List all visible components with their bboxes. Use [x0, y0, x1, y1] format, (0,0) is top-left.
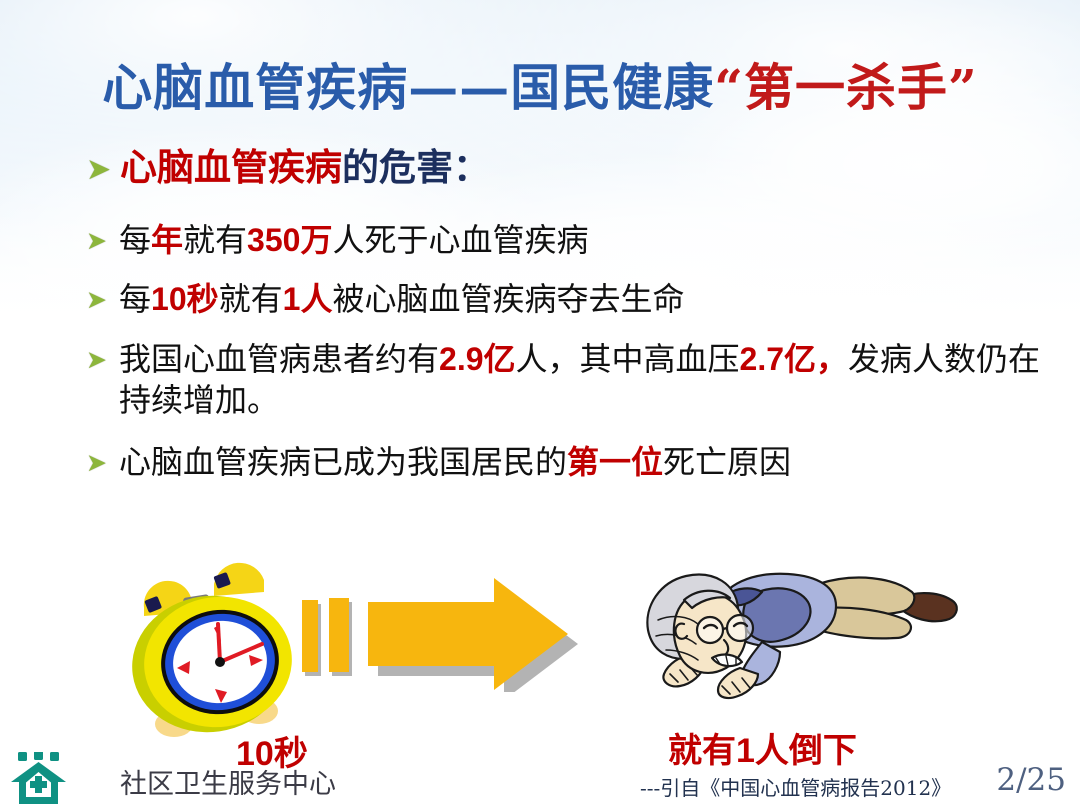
text-segment-highlight: 第一位 [567, 444, 663, 480]
arrow-bullet-icon: ➤ [86, 339, 119, 372]
lead-bullet-rest: 的危害： [342, 147, 490, 188]
list-item-text: 每10秒就有1人被心脑血管疾病夺去生命 [119, 279, 1046, 321]
right-arrow-icon [300, 572, 620, 692]
list-item: ➤ 每10秒就有1人被心脑血管疾病夺去生命 [86, 279, 1046, 321]
text-segment: 就有 [219, 281, 283, 317]
arrow-bullet-icon: ➤ [86, 442, 119, 475]
title-emphasis: “第一杀手” [714, 58, 978, 117]
text-segment-highlight: 10秒 [151, 281, 219, 317]
lead-bullet: ➤ 心脑血管疾病的危害： [86, 146, 1046, 190]
text-segment: 死亡原因 [663, 444, 791, 480]
slide: 心脑血管疾病——国民健康“第一杀手” ➤ 心脑血管疾病的危害： ➤ 每年就有35… [0, 0, 1080, 810]
text-segment-highlight: 年 [151, 222, 183, 258]
page-number: 2/25 [996, 762, 1066, 798]
text-segment-highlight: 2.7亿， [740, 341, 849, 377]
title-main: 心脑血管疾病——国民健康 [102, 58, 714, 117]
text-segment: 每 [119, 281, 151, 317]
text-segment: 就有 [183, 222, 247, 258]
text-segment-highlight: 350万 [247, 222, 332, 258]
text-segment: 心脑血管疾病已成为我国居民的 [119, 444, 567, 480]
text-segment: 我国心血管病患者约有 [119, 341, 439, 377]
list-item-text: 我国心血管病患者约有2.9亿人，其中高血压2.7亿，发病人数仍在持续增加。 [119, 339, 1046, 422]
text-segment-highlight: 2.9亿 [439, 341, 516, 377]
bullet-list: ➤ 心脑血管疾病的危害： ➤ 每年就有350万人死于心血管疾病 ➤ 每10秒就有… [86, 146, 1046, 502]
arrow-bullet-icon: ➤ [86, 279, 119, 312]
arrow-bullet-icon: ➤ [86, 220, 119, 253]
text-segment: 被心脑血管疾病夺去生命 [332, 281, 684, 317]
caption-right: 就有1人倒下 [668, 723, 857, 772]
list-item-text: 心脑血管疾病已成为我国居民的第一位死亡原因 [119, 442, 1046, 484]
text-segment-highlight: 1人 [283, 281, 333, 317]
lead-bullet-highlight: 心脑血管疾病 [120, 147, 342, 188]
footer-source-citation: ---引自《中国心血管病报告2012》 [640, 772, 951, 801]
list-item: ➤ 心脑血管疾病已成为我国居民的第一位死亡原因 [86, 442, 1046, 484]
list-item-text: 每年就有350万人死于心血管疾病 [119, 220, 1046, 262]
fallen-elderly-person-icon [612, 558, 962, 708]
list-item: ➤ 我国心血管病患者约有2.9亿人，其中高血压2.7亿，发病人数仍在持续增加。 [86, 339, 1046, 422]
community-health-center-logo [10, 752, 68, 806]
text-segment: 人，其中高血压 [516, 341, 740, 377]
lead-bullet-text: 心脑血管疾病的危害： [120, 146, 1046, 190]
footer-organization: 社区卫生服务中心 [120, 762, 336, 801]
page-title: 心脑血管疾病——国民健康“第一杀手” [0, 48, 1080, 120]
alarm-clock-icon [118, 556, 318, 746]
text-segment: 每 [119, 222, 151, 258]
list-item: ➤ 每年就有350万人死于心血管疾病 [86, 220, 1046, 262]
illustration-row: 10秒 就有1人倒下 [0, 548, 1080, 758]
text-segment: 人死于心血管疾病 [332, 222, 588, 258]
arrow-bullet-icon: ➤ [86, 146, 120, 185]
